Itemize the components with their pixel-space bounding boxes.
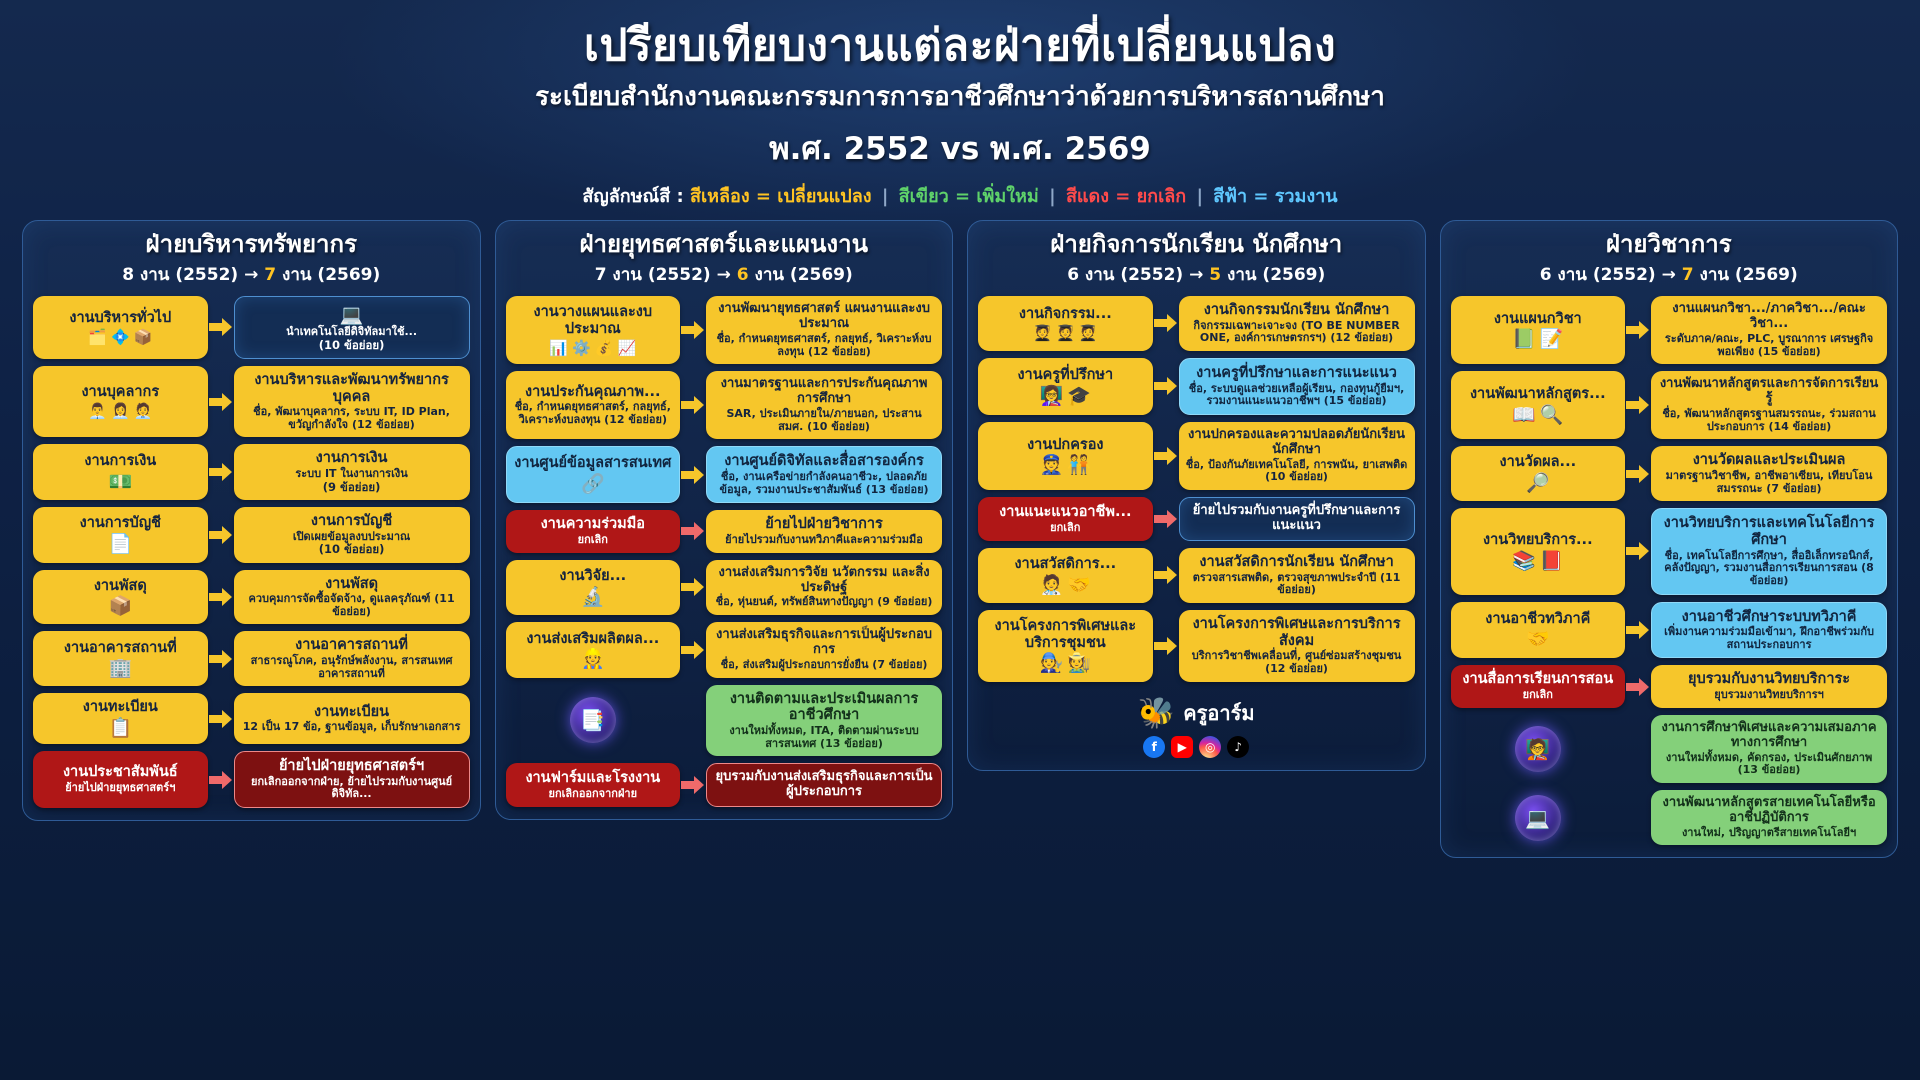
task-description: ชื่อ, พัฒนาหลักสูตรฐานสมรรถนะ, ร่วมสถานป… <box>1658 408 1880 433</box>
color-legend: สัญลักษณ์สี : สีเหลือง = เปลี่ยนแปลง | ส… <box>0 181 1920 210</box>
task-cell-new[interactable]: งานอาชีวศึกษาระบบทวิภาคีเพิ่มงานความร่วม… <box>1651 602 1887 659</box>
task-cell-new[interactable]: งานศูนย์ดิจิทัลและสื่อสารองค์กรชื่อ, งาน… <box>706 446 942 503</box>
task-title: งานโครงการพิเศษและบริการชุมชน <box>985 618 1146 651</box>
page-title: เปรียบเทียบงานแต่ละฝ่ายที่เปลี่ยนแปลง <box>0 22 1920 70</box>
page-years: พ.ศ. 2552 vs พ.ศ. 2569 <box>0 123 1920 173</box>
arrow-icon <box>1626 464 1650 484</box>
illustration-icon: 🔬 <box>581 588 605 607</box>
task-title: งานการเงิน <box>316 450 388 467</box>
task-row: งานวิจัย...🔬งานส่งเสริมการวิจัย นวัตกรรม… <box>506 560 943 616</box>
task-row: งานความร่วมมือยกเลิกย้ายไปฝ่ายวิชาการย้า… <box>506 510 943 552</box>
task-cell-new[interactable]: งานโครงการพิเศษและการบริการสังคมบริการวิ… <box>1179 610 1415 682</box>
task-description: ตรวจสารเสพติด, ตรวจสุขภาพประจำปี (11 ข้อ… <box>1186 572 1408 597</box>
task-cell-new[interactable]: งานวัดผลและประเมินผลมาตรฐานวิชาชีพ, อาชี… <box>1651 446 1887 501</box>
transition-arrow <box>208 751 234 808</box>
task-description: ควบคุมการจัดซื้อจัดจ้าง, ดูแลครุภัณฑ์ (1… <box>241 593 463 618</box>
task-cell-old[interactable]: งานวัดผล...🔎 <box>1451 446 1626 501</box>
task-illustration: 👨‍💼👩‍💼🧑‍💼 <box>88 404 152 419</box>
tiktok-icon[interactable]: ♪ <box>1227 736 1249 758</box>
task-cell-new[interactable]: งานการศึกษาพิเศษและความเสมอภาคทางการศึกษ… <box>1651 715 1887 783</box>
legend-item-blue: สีฟ้า = รวมงาน <box>1213 186 1337 207</box>
task-illustration: 🔗 <box>581 475 605 494</box>
illustration-icon: 🔗 <box>581 475 605 494</box>
illustration-icon: 👩‍💼 <box>111 404 130 419</box>
task-cell-old[interactable]: งานสวัสดิการ...🧑‍⚕️🤝 <box>978 548 1153 603</box>
transition-arrow <box>680 763 706 807</box>
task-description: ยกเลิก <box>1050 522 1080 535</box>
task-cell-new[interactable]: 💻นำเทคโนโลยีดิจิทัลมาใช้...(10 ข้อย่อย) <box>234 296 470 359</box>
task-title: งานพัสดุ <box>325 576 378 593</box>
illustration-icon: 🔍 <box>1540 406 1564 425</box>
page-subtitle: ระเบียบสำนักงานคณะกรรมการการอาชีวศึกษาว่… <box>0 76 1920 117</box>
count-new-number: 7 <box>1682 265 1694 285</box>
task-description: สาธารณูโภค, อนุรักษ์พลังงาน, สารสนเทศอาค… <box>241 655 463 680</box>
transition-arrow <box>680 371 706 439</box>
task-row: งานการบัญชี📄งานการบัญชีเปิดเผยข้อมูลงบปร… <box>33 507 470 563</box>
task-description: ยกเลิกออกจากฝ่าย, ย้ายไปรวมกับงานศูนย์ดิ… <box>242 776 462 801</box>
illustration-icon: 🧑‍🔧 <box>1040 654 1064 673</box>
task-cell-new[interactable]: งานแผนกวิชา.../ภาควิชา.../คณะวิชา...ระดั… <box>1651 296 1887 364</box>
count-old: 6 งาน (2552) <box>1067 265 1183 285</box>
transition-arrow <box>1625 602 1651 659</box>
task-title: งานการศึกษาพิเศษและความเสมอภาคทางการศึกษ… <box>1658 721 1880 751</box>
department-column: ฝ่ายบริหารทรัพยากร8 งาน (2552) → 7 งาน (… <box>22 220 481 821</box>
legend-label: สัญลักษณ์สี : <box>582 186 683 207</box>
arrow-icon <box>681 521 705 541</box>
task-cell-old[interactable]: งานทะเบียน📋 <box>33 693 208 744</box>
task-cell-new[interactable]: งานมาตรฐานและการประกันคุณภาพการศึกษาSAR,… <box>706 371 942 439</box>
task-subcount: (10 ข้อย่อย) <box>319 543 385 556</box>
arrow-icon <box>681 775 705 795</box>
transition-arrow <box>208 444 234 500</box>
glow-icon-slot: 🧑‍🏫 <box>1451 715 1626 783</box>
task-title: งานพัสดุ <box>94 578 147 595</box>
task-cell-new[interactable]: งานทะเบียน12 เป็น 17 ข้อ, ฐานข้อมูล, เก็… <box>234 693 470 744</box>
social-links: f▶◎♪ <box>1143 736 1249 758</box>
task-illustration: 👮🧑‍🤝‍🧑 <box>1040 456 1091 475</box>
task-description: ชื่อ, ส่งเสริมผู้ประกอบการยั่งยืน (7 ข้อ… <box>721 659 928 672</box>
illustration-icon: 📊 <box>549 341 568 356</box>
task-cell-old[interactable]: งานวิจัย...🔬 <box>506 560 681 616</box>
task-row: งานโครงการพิเศษและบริการชุมชน🧑‍🔧🧑‍🌾งานโค… <box>978 610 1415 682</box>
department-columns: ฝ่ายบริหารทรัพยากร8 งาน (2552) → 7 งาน (… <box>0 210 1920 858</box>
arrow-icon <box>209 770 233 790</box>
illustration-icon: 📖 <box>1512 406 1536 425</box>
task-illustration: 📄 <box>108 535 132 554</box>
task-cell-new[interactable]: งานพัฒนาหลักสูตรและการจัดการเรียนรู้ชื่อ… <box>1651 371 1887 439</box>
transition-arrow <box>208 693 234 744</box>
task-cell-old[interactable]: งานแผนกวิชา📗📝 <box>1451 296 1626 364</box>
transition-arrow <box>1153 296 1179 351</box>
task-description: ชื่อ, กำหนดยุทธศาสตร์, กลยุทธ์, วิเคราะห… <box>713 333 935 358</box>
legend-item-red: สีแดง = ยกเลิก <box>1066 186 1186 207</box>
task-cell-old[interactable]: งานสื่อการเรียนการสอนยกเลิก <box>1451 665 1626 707</box>
task-description: ชื่อ, งานเครือข่ายกำลังคนอาชีวะ, ปลอดภัย… <box>714 471 934 496</box>
arrow-icon <box>209 649 233 669</box>
task-title: งานแผนกวิชา.../ภาควิชา.../คณะวิชา... <box>1658 302 1880 332</box>
legend-item-yellow: สีเหลือง = เปลี่ยนแปลง <box>690 186 872 207</box>
column-title: ฝ่ายบริหารทรัพยากร <box>33 231 470 259</box>
task-cell-new[interactable]: งานการเงินระบบ IT ในงานการเงิน(9 ข้อย่อย… <box>234 444 470 500</box>
illustration-icon: 👩‍🏫 <box>1040 387 1064 406</box>
task-subcount: (9 ข้อย่อย) <box>323 481 381 494</box>
legend-separator-1: | <box>878 186 893 207</box>
task-cell-old[interactable]: งานปกครอง👮🧑‍🤝‍🧑 <box>978 422 1153 490</box>
task-row: งานกิจกรรม...🧑‍🎓🧑‍🎓🧑‍🎓งานกิจกรรมนักเรียน… <box>978 296 1415 351</box>
task-description: ยกเลิกออกจากฝ่าย <box>549 788 638 801</box>
task-cell-old[interactable]: งานฟาร์มและโรงงานยกเลิกออกจากฝ่าย <box>506 763 681 807</box>
arrow-icon <box>681 395 705 415</box>
task-title: งานวิทยบริการและเทคโนโลยีการศึกษา <box>1659 515 1879 548</box>
glow-icon-slot: 📑 <box>506 685 681 757</box>
page-header: เปรียบเทียบงานแต่ละฝ่ายที่เปลี่ยนแปลง ระ… <box>0 0 1920 210</box>
column-count-summary: 6 งาน (2552) → 5 งาน (2569) <box>978 261 1415 288</box>
task-illustration: 📖🔍 <box>1512 406 1563 425</box>
task-description: มาตรฐานวิชาชีพ, อาชีพอาเซียน, เทียบโอนสม… <box>1658 470 1880 495</box>
arrow-icon <box>209 525 233 545</box>
illustration-icon: 🏢 <box>108 659 132 678</box>
task-description: ย้ายไปรวมกับงานทวิภาคีและความร่วมมือ <box>725 534 923 547</box>
task-cell-old[interactable]: งานส่งเสริมผลิตผล...👷 <box>506 622 681 678</box>
task-illustration: 💵 <box>108 473 132 492</box>
count-old: 7 งาน (2552) <box>595 265 711 285</box>
task-description: เพิ่มงานความร่วมมือเข้ามา, ฝึกอาชีพร่วมก… <box>1659 626 1879 651</box>
illustration-icon: 📦 <box>108 597 132 616</box>
task-row: งานวัดผล...🔎งานวัดผลและประเมินผลมาตรฐานว… <box>1451 446 1888 501</box>
task-title: งานกิจกรรมนักเรียน นักศึกษา <box>1204 302 1390 319</box>
task-title: งานพัฒนาหลักสูตรและการจัดการเรียนรู้ <box>1658 377 1880 407</box>
author-name: ครูอาร์ม <box>1183 697 1254 729</box>
task-cell-new[interactable]: งานปกครองและความปลอดภัยนักเรียน นักศึกษา… <box>1179 422 1415 490</box>
task-title: ยุบรวมกับงานส่งเสริมธุรกิจและการเป็นผู้ป… <box>714 770 934 800</box>
transition-arrow <box>1625 715 1651 783</box>
task-row: งานสื่อการเรียนการสอนยกเลิกยุบรวมกับงานว… <box>1451 665 1888 707</box>
task-cell-new[interactable]: งานพัฒนายุทธศาสตร์ แผนงานและงบประมาณชื่อ… <box>706 296 942 364</box>
task-cell-new[interactable]: งานส่งเสริมการวิจัย นวัตกรรม และสิ่งประด… <box>706 560 942 616</box>
transition-arrow <box>1153 422 1179 490</box>
task-illustration: 📋 <box>108 719 132 738</box>
illustration-icon: 📦 <box>134 330 153 345</box>
task-illustration: 🔬 <box>581 588 605 607</box>
transition-arrow <box>680 685 706 757</box>
task-description: ย้ายไปฝ่ายยุทธศาสตร์ฯ <box>65 782 175 795</box>
task-cell-old[interactable]: งานความร่วมมือยกเลิก <box>506 510 681 552</box>
column-title: ฝ่ายกิจการนักเรียน นักศึกษา <box>978 231 1415 259</box>
transition-arrow <box>680 296 706 364</box>
illustration-icon: 📋 <box>108 719 132 738</box>
task-title: งานติดตามและประเมินผลการอาชีวศึกษา <box>713 691 935 724</box>
arrow-icon <box>1154 376 1178 396</box>
arrow-icon <box>1154 565 1178 585</box>
illustration-icon: 🧑‍🎓 <box>1079 326 1098 341</box>
task-title: ย้ายไปฝ่ายวิชาการ <box>765 516 883 533</box>
task-title: งานอาชีวศึกษาระบบทวิภาคี <box>1682 609 1857 626</box>
task-description: งานใหม่ทั้งหมด, คัดกรอง, ประเมินศักยภาพ … <box>1658 752 1880 777</box>
task-title: ย้ายไปฝ่ายยุทธศาสตร์ฯ <box>279 758 424 775</box>
task-title: งานครูที่ปรึกษา <box>1017 367 1113 384</box>
task-title: งานวิจัย... <box>559 568 626 585</box>
task-cell-old[interactable]: งานวางแผนและงบประมาณ📊⚙️💰📈 <box>506 296 681 364</box>
arrow-icon <box>681 577 705 597</box>
task-rows: งานกิจกรรม...🧑‍🎓🧑‍🎓🧑‍🎓งานกิจกรรมนักเรียน… <box>978 296 1415 682</box>
task-cell-old[interactable]: งานแนะแนวอาชีพ...ยกเลิก <box>978 497 1153 541</box>
illustration-icon: 🎓 <box>1067 387 1091 406</box>
task-title: งานการบัญชี <box>311 513 392 530</box>
transition-arrow <box>680 560 706 616</box>
transition-arrow <box>1625 371 1651 439</box>
illustration-icon: 🧑‍🌾 <box>1067 654 1091 673</box>
task-cell-old[interactable]: งานประกันคุณภาพ...ชื่อ, กำหนดยุทธศาสตร์,… <box>506 371 681 439</box>
task-title: งานฟาร์มและโรงงาน <box>525 770 660 787</box>
task-row: งานทะเบียน📋งานทะเบียน12 เป็น 17 ข้อ, ฐาน… <box>33 693 470 744</box>
task-cell-new[interactable]: ยุบรวมกับงานวิทยบริการะยุบรวมงานวิทยบริก… <box>1651 665 1887 707</box>
illustration-icon: 📝 <box>1540 330 1564 349</box>
task-row: งานอาชีวทวิภาคี🤝งานอาชีวศึกษาระบบทวิภาคี… <box>1451 602 1888 659</box>
task-cell-old[interactable]: งานครูที่ปรึกษา👩‍🏫🎓 <box>978 358 1153 415</box>
task-title: งานสวัสดิการ... <box>1014 556 1116 573</box>
laptop-icon: 💻 <box>340 306 364 325</box>
new-task-glow-icon: 💻 <box>1515 795 1561 841</box>
task-title: งานปกครองและความปลอดภัยนักเรียน นักศึกษา <box>1186 428 1408 458</box>
column-count-summary: 8 งาน (2552) → 7 งาน (2569) <box>33 261 470 288</box>
count-arrow-icon: → <box>711 265 737 285</box>
task-row: 🧑‍🏫งานการศึกษาพิเศษและความเสมอภาคทางการศ… <box>1451 715 1888 783</box>
task-row: งานสวัสดิการ...🧑‍⚕️🤝งานสวัสดิการนักเรียน… <box>978 548 1415 603</box>
task-cell-new[interactable]: งานการบัญชีเปิดเผยข้อมูลงบประมาณ(10 ข้อย… <box>234 507 470 563</box>
arrow-icon <box>1626 395 1650 415</box>
task-description: นำเทคโนโลยีดิจิทัลมาใช้... <box>286 326 417 339</box>
task-title: งานการเงิน <box>84 453 156 470</box>
task-cell-new[interactable]: ย้ายไปฝ่ายยุทธศาสตร์ฯยกเลิกออกจากฝ่าย, ย… <box>234 751 470 808</box>
task-rows: งานบริหารทั่วไป🗂️💠📦💻นำเทคโนโลยีดิจิทัลมา… <box>33 296 470 808</box>
task-cell-new[interactable]: งานพัสดุควบคุมการจัดซื้อจัดจ้าง, ดูแลครุ… <box>234 570 470 625</box>
transition-arrow <box>1625 508 1651 594</box>
task-cell-new[interactable]: ย้ายไปรวมกับงานครูที่ปรึกษาและการแนะแนว <box>1179 497 1415 541</box>
task-illustration: 🧑‍🎓🧑‍🎓🧑‍🎓 <box>1033 326 1097 341</box>
task-title: งานอาคารสถานที่ <box>64 640 177 657</box>
task-description: ชื่อ, ป้องกันภัยเทคโนโลยี, การพนัน, ยาเส… <box>1186 459 1408 484</box>
new-task-glow-icon: 📑 <box>570 697 616 743</box>
legend-separator-2: | <box>1045 186 1060 207</box>
task-rows: งานวางแผนและงบประมาณ📊⚙️💰📈งานพัฒนายุทธศาส… <box>506 296 943 807</box>
task-title: งานประกันคุณภาพ... <box>525 384 661 401</box>
task-cell-old[interactable]: งานประชาสัมพันธ์ย้ายไปฝ่ายยุทธศาสตร์ฯ <box>33 751 208 808</box>
illustration-icon: 💵 <box>108 473 132 492</box>
author-credit: 🐝ครูอาร์มf▶◎♪ <box>978 696 1415 758</box>
column-count-summary: 7 งาน (2552) → 6 งาน (2569) <box>506 261 943 288</box>
task-cell-old[interactable]: งานพัสดุ📦 <box>33 570 208 625</box>
illustration-icon: ⚙️ <box>572 341 591 356</box>
arrow-icon <box>209 462 233 482</box>
task-cell-new[interactable]: งานส่งเสริมธุรกิจและการเป็นผู้ประกอบการช… <box>706 622 942 678</box>
task-description: ระดับภาค/คณะ, PLC, บูรณาการ เศรษฐกิจพอเพ… <box>1658 333 1880 358</box>
task-title: ยุบรวมกับงานวิทยบริการะ <box>1688 671 1850 688</box>
task-cell-new[interactable]: งานพัฒนาหลักสูตรสายเทคโนโลยีหรืออาชีปฏิบ… <box>1651 790 1887 846</box>
transition-arrow <box>1153 548 1179 603</box>
task-description: 12 เป็น 17 ข้อ, ฐานข้อมูล, เก็บรักษาเอกส… <box>243 721 461 734</box>
count-old: 6 งาน (2552) <box>1540 265 1656 285</box>
task-row: งานศูนย์ข้อมูลสารสนเทศ🔗งานศูนย์ดิจิทัลแล… <box>506 446 943 503</box>
task-title: งานบริหารทั่วไป <box>69 310 171 327</box>
illustration-icon: 📗 <box>1512 330 1536 349</box>
illustration-icon: 📕 <box>1540 552 1564 571</box>
task-cell-old[interactable]: งานการบัญชี📄 <box>33 507 208 563</box>
count-new-rest: งาน (2569) <box>749 265 853 285</box>
arrow-icon <box>209 317 233 337</box>
task-cell-new[interactable]: งานวิทยบริการและเทคโนโลยีการศึกษาชื่อ, เ… <box>1651 508 1887 594</box>
task-description: บริการวิชาชีพเคลื่อนที่, ศูนย์ซ่อมสร้างช… <box>1186 650 1408 675</box>
task-description: กิจกรรมเฉพาะเจาะจง (TO BE NUMBER ONE, อง… <box>1186 320 1408 345</box>
task-row: งานปกครอง👮🧑‍🤝‍🧑งานปกครองและความปลอดภัยนั… <box>978 422 1415 490</box>
task-description: ชื่อ, พัฒนาบุคลากร, ระบบ IT, ID Plan, ขว… <box>241 406 463 431</box>
facebook-icon[interactable]: f <box>1143 736 1165 758</box>
illustration-icon: 👮 <box>1040 456 1064 475</box>
count-arrow-icon: → <box>1656 265 1682 285</box>
transition-arrow <box>208 507 234 563</box>
task-description: ชื่อ, กำหนดยุทธศาสตร์, กลยุทธ์, วิเคราะห… <box>513 401 674 426</box>
illustration-icon: 🧑‍💼 <box>134 404 153 419</box>
arrow-icon <box>1154 446 1178 466</box>
task-title: งานทะเบียน <box>83 699 158 716</box>
instagram-icon[interactable]: ◎ <box>1199 736 1221 758</box>
transition-arrow <box>1625 296 1651 364</box>
task-row: งานฟาร์มและโรงงานยกเลิกออกจากฝ่ายยุบรวมก… <box>506 763 943 807</box>
task-description: ยุบรวมงานวิทยบริการฯ <box>1714 689 1824 702</box>
arrow-icon <box>1626 677 1650 697</box>
task-row: งานบริหารทั่วไป🗂️💠📦💻นำเทคโนโลยีดิจิทัลมา… <box>33 296 470 359</box>
task-cell-new[interactable]: งานสวัสดิการนักเรียน นักศึกษาตรวจสารเสพต… <box>1179 548 1415 603</box>
column-title: ฝ่ายยุทธศาสตร์และแผนงาน <box>506 231 943 259</box>
task-cell-old[interactable]: งานอาคารสถานที่🏢 <box>33 631 208 686</box>
count-arrow-icon: → <box>238 265 264 285</box>
legend-item-green: สีเขียว = เพิ่มใหม่ <box>899 186 1039 207</box>
task-row: งานวิทยบริการ...📚📕งานวิทยบริการและเทคโนโ… <box>1451 508 1888 594</box>
task-cell-new[interactable]: งานติดตามและประเมินผลการอาชีวศึกษางานใหม… <box>706 685 942 757</box>
task-cell-new[interactable]: งานอาคารสถานที่สาธารณูโภค, อนุรักษ์พลังง… <box>234 631 470 686</box>
illustration-icon: 💰 <box>595 341 614 356</box>
column-title: ฝ่ายวิชาการ <box>1451 231 1888 259</box>
illustration-icon: 💠 <box>111 330 130 345</box>
task-cell-old[interactable]: งานบริหารทั่วไป🗂️💠📦 <box>33 296 208 359</box>
task-title: งานพัฒนาหลักสูตรสายเทคโนโลยีหรืออาชีปฏิบ… <box>1658 796 1880 826</box>
task-cell-old[interactable]: งานพัฒนาหลักสูตร...📖🔍 <box>1451 371 1626 439</box>
task-cell-new[interactable]: ยุบรวมกับงานส่งเสริมธุรกิจและการเป็นผู้ป… <box>706 763 942 807</box>
task-title: งานโครงการพิเศษและการบริการสังคม <box>1186 616 1408 649</box>
arrow-icon <box>209 709 233 729</box>
count-arrow-icon: → <box>1183 265 1209 285</box>
task-row: งานวางแผนและงบประมาณ📊⚙️💰📈งานพัฒนายุทธศาส… <box>506 296 943 364</box>
task-illustration: 👩‍🏫🎓 <box>1040 387 1091 406</box>
task-description: ชื่อ, หุ่นยนต์, ทรัพย์สินทางปัญญา (9 ข้อ… <box>716 596 933 609</box>
task-illustration: 🗂️💠📦 <box>88 330 152 345</box>
task-title: งานบริหารและพัฒนาทรัพยากรบุคคล <box>241 372 463 405</box>
task-row: งานแผนกวิชา📗📝งานแผนกวิชา.../ภาควิชา.../ค… <box>1451 296 1888 364</box>
illustration-icon: 👷 <box>581 650 605 669</box>
task-title: งานวัดผล... <box>1499 454 1576 471</box>
department-column: ฝ่ายกิจการนักเรียน นักศึกษา6 งาน (2552) … <box>967 220 1426 770</box>
count-new-rest: งาน (2569) <box>1694 265 1798 285</box>
youtube-icon[interactable]: ▶ <box>1171 736 1193 758</box>
task-cell-old[interactable]: งานการเงิน💵 <box>33 444 208 500</box>
department-column: ฝ่ายยุทธศาสตร์และแผนงาน7 งาน (2552) → 6 … <box>495 220 954 820</box>
task-row: งานครูที่ปรึกษา👩‍🏫🎓งานครูที่ปรึกษาและการ… <box>978 358 1415 415</box>
task-cell-old[interactable]: งานศูนย์ข้อมูลสารสนเทศ🔗 <box>506 446 681 503</box>
task-cell-new[interactable]: งานครูที่ปรึกษาและการแนะแนวชื่อ, ระบบดูแ… <box>1179 358 1415 415</box>
task-cell-old[interactable]: งานวิทยบริการ...📚📕 <box>1451 508 1626 594</box>
illustration-icon: 👨‍💼 <box>88 404 107 419</box>
task-title: งานอาคารสถานที่ <box>295 637 408 654</box>
task-title: งานวิทยบริการ... <box>1483 532 1593 549</box>
task-row: งานพัสดุ📦งานพัสดุควบคุมการจัดซื้อจัดจ้าง… <box>33 570 470 625</box>
transition-arrow <box>208 366 234 438</box>
task-title: งานบุคลากร <box>81 384 159 401</box>
task-description: ระบบ IT ในงานการเงิน <box>295 468 407 481</box>
task-illustration: 📦 <box>108 597 132 616</box>
transition-arrow <box>1153 358 1179 415</box>
transition-arrow <box>208 631 234 686</box>
task-title: งานครูที่ปรึกษาและการแนะแนว <box>1196 365 1397 382</box>
task-cell-old[interactable]: งานอาชีวทวิภาคี🤝 <box>1451 602 1626 659</box>
task-illustration: 📗📝 <box>1512 330 1563 349</box>
task-description: ชื่อ, ระบบดูแลช่วยเหลือผู้เรียน, กองทุนก… <box>1187 383 1407 408</box>
task-title: งานปกครอง <box>1027 437 1103 454</box>
task-row: 📑งานติดตามและประเมินผลการอาชีวศึกษางานให… <box>506 685 943 757</box>
transition-arrow <box>680 446 706 503</box>
task-cell-new[interactable]: ย้ายไปฝ่ายวิชาการย้ายไปรวมกับงานทวิภาคีแ… <box>706 510 942 552</box>
task-title: งานวางแผนและงบประมาณ <box>513 304 674 337</box>
task-row: งานบุคลากร👨‍💼👩‍💼🧑‍💼งานบริหารและพัฒนาทรัพ… <box>33 366 470 438</box>
count-new-rest: งาน (2569) <box>276 265 380 285</box>
task-title: ย้ายไปรวมกับงานครูที่ปรึกษาและการแนะแนว <box>1187 504 1407 534</box>
illustration-icon: 🤝 <box>1067 576 1091 595</box>
count-new-number: 6 <box>737 265 749 285</box>
task-cell-old[interactable]: งานโครงการพิเศษและบริการชุมชน🧑‍🔧🧑‍🌾 <box>978 610 1153 682</box>
task-description: ชื่อ, เทคโนโลยีการศึกษา, สื่ออิเล็กทรอนิ… <box>1659 550 1879 588</box>
task-title: งานวัดผลและประเมินผล <box>1693 452 1846 469</box>
column-count-summary: 6 งาน (2552) → 7 งาน (2569) <box>1451 261 1888 288</box>
task-title: งานส่งเสริมการวิจัย นวัตกรรม และสิ่งประด… <box>713 566 935 596</box>
illustration-icon: 📄 <box>108 535 132 554</box>
task-title: งานพัฒนาหลักสูตร... <box>1470 386 1606 403</box>
task-cell-new[interactable]: งานกิจกรรมนักเรียน นักศึกษากิจกรรมเฉพาะเ… <box>1179 296 1415 351</box>
legend-separator-3: | <box>1192 186 1207 207</box>
task-title: งานอาชีวทวิภาคี <box>1485 611 1590 628</box>
task-cell-new[interactable]: งานบริหารและพัฒนาทรัพยากรบุคคลชื่อ, พัฒน… <box>234 366 470 438</box>
task-illustration: 🏢 <box>108 659 132 678</box>
task-row: 💻งานพัฒนาหลักสูตรสายเทคโนโลยีหรืออาชีปฏิ… <box>1451 790 1888 846</box>
transition-arrow <box>208 570 234 625</box>
task-cell-old[interactable]: งานบุคลากร👨‍💼👩‍💼🧑‍💼 <box>33 366 208 438</box>
task-title: งานแนะแนวอาชีพ... <box>999 504 1131 521</box>
task-illustration: 🤝 <box>1526 630 1550 649</box>
task-row: งานประกันคุณภาพ...ชื่อ, กำหนดยุทธศาสตร์,… <box>506 371 943 439</box>
task-title: งานประชาสัมพันธ์ <box>63 764 178 781</box>
task-illustration: 🧑‍⚕️🤝 <box>1040 576 1091 595</box>
task-title: งานศูนย์ดิจิทัลและสื่อสารองค์กร <box>724 453 924 470</box>
task-illustration: 📊⚙️💰📈 <box>549 341 636 356</box>
task-cell-old[interactable]: งานกิจกรรม...🧑‍🎓🧑‍🎓🧑‍🎓 <box>978 296 1153 351</box>
task-description: งานใหม่, ปริญญาตรีสายเทคโนโลยีฯ <box>1682 827 1856 840</box>
glow-icon-slot: 💻 <box>1451 790 1626 846</box>
arrow-icon <box>681 320 705 340</box>
arrow-icon <box>1154 636 1178 656</box>
illustration-icon: 📈 <box>617 341 636 356</box>
illustration-icon: 🧑‍🎓 <box>1056 326 1075 341</box>
transition-arrow <box>680 622 706 678</box>
task-title: งานสื่อการเรียนการสอน <box>1462 671 1613 688</box>
transition-arrow <box>1625 446 1651 501</box>
arrow-icon <box>1626 320 1650 340</box>
